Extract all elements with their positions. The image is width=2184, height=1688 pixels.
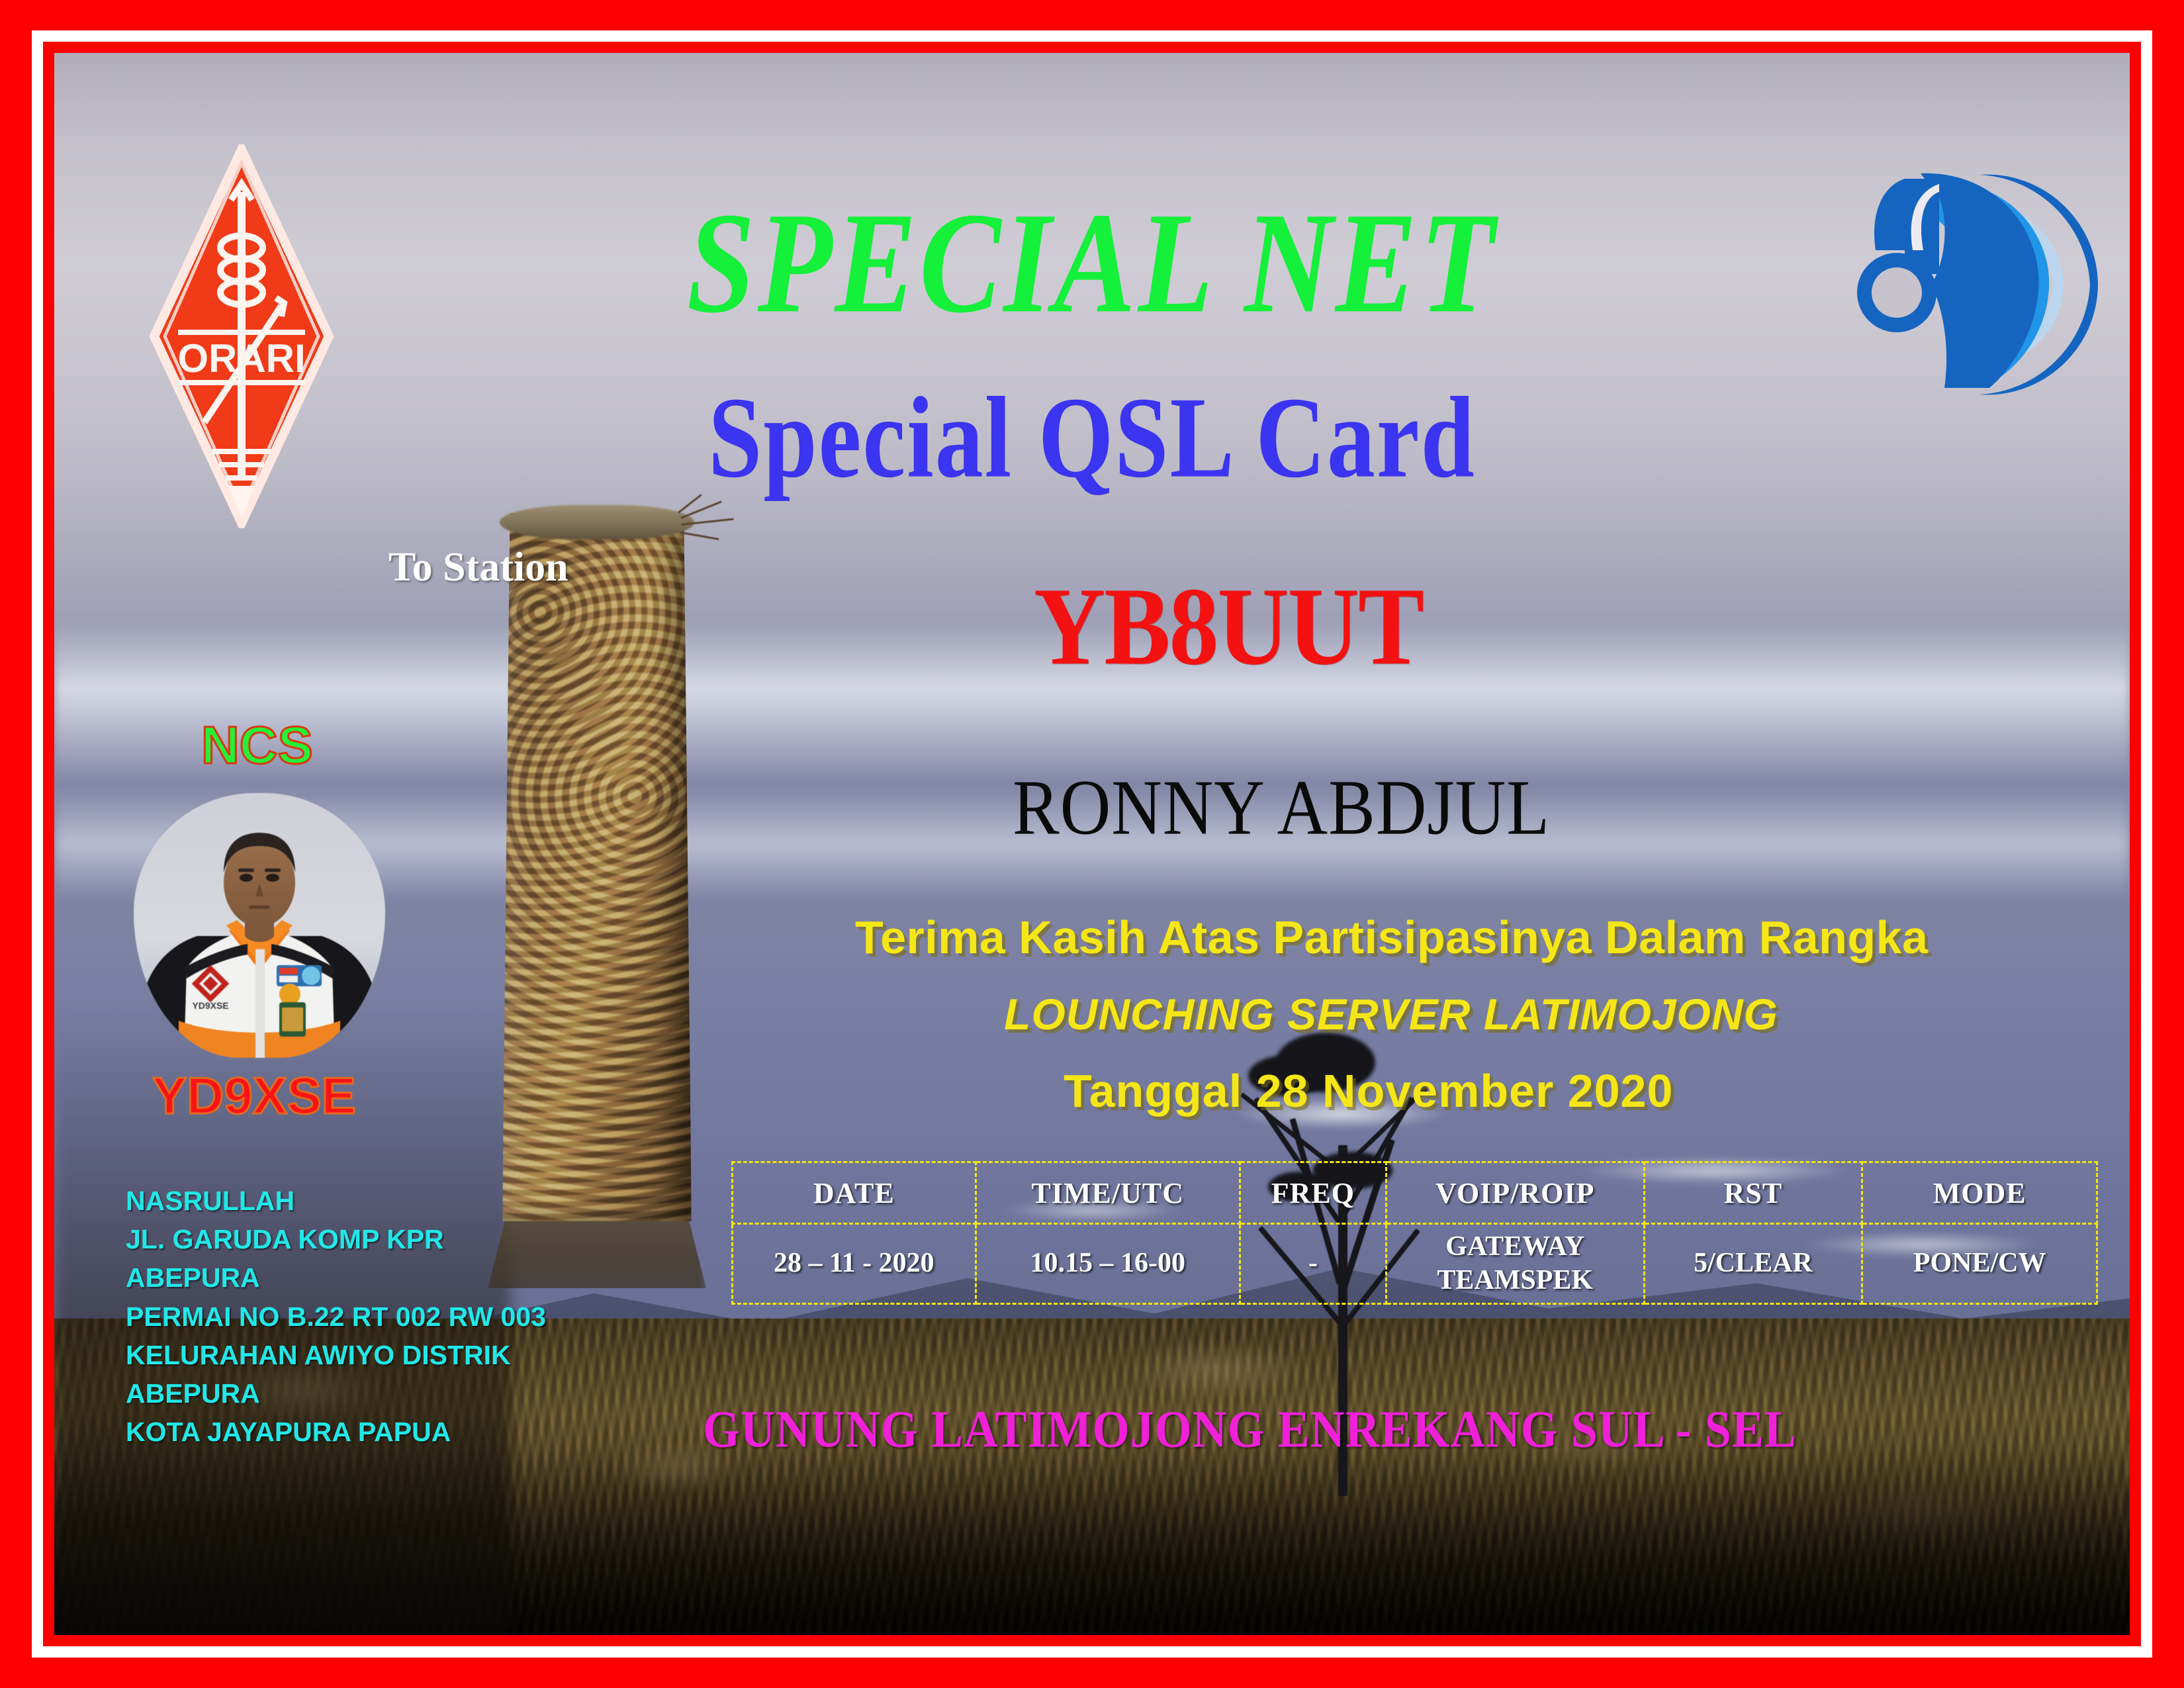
page-title: SPECIAL NET: [54, 180, 2130, 346]
svg-text:YD9XSE: YD9XSE: [192, 1000, 228, 1011]
cell-mode: PONE/CW: [1862, 1224, 2097, 1304]
cell-voip-line2: TEAMSPEK: [1437, 1265, 1593, 1295]
header-mode: MODE: [1862, 1162, 2097, 1224]
address-line: PERMAI NO B.22 RT 002 RW 003: [126, 1297, 546, 1336]
header-rst: RST: [1644, 1162, 1862, 1224]
operator-photo: YD9XSE: [134, 793, 385, 1058]
cell-voip: GATEWAY TEAMSPEK: [1386, 1224, 1644, 1304]
address-line: NASRULLAH: [126, 1182, 546, 1220]
cell-time: 10.15 – 16-00: [976, 1224, 1240, 1304]
header-freq: FREQ: [1240, 1162, 1386, 1224]
address-line: ABEPURA: [126, 1374, 546, 1413]
station-callsign: YB8UUT: [1034, 563, 1423, 690]
cairn-body: [502, 513, 692, 1221]
address-line: JL. GARUDA KOMP KPR: [126, 1220, 546, 1258]
address-line: KOTA JAYAPURA PAPUA: [126, 1413, 546, 1451]
cairn-top: [500, 505, 694, 539]
event-date-line: Tanggal 28 November 2020: [1064, 1064, 1673, 1117]
card-photo-background: ORARI: [54, 53, 2130, 1635]
cell-freq: -: [1240, 1224, 1386, 1304]
table-header-row: DATE TIME/UTC FREQ VOIP/ROIP RST MODE: [733, 1162, 2097, 1224]
address-line: KELURAHAN AWIYO DISTRIK: [126, 1336, 546, 1374]
thanks-line: Terima Kasih Atas Partisipasinya Dalam R…: [855, 911, 1929, 964]
location-line: GUNUNG LATIMOJONG ENREKANG SUL - SEL: [703, 1399, 1797, 1460]
page-subtitle: Special QSL Card: [54, 371, 2130, 504]
header-voip: VOIP/ROIP: [1386, 1162, 1644, 1224]
sender-address-block: NASRULLAH JL. GARUDA KOMP KPR ABEPURA PE…: [126, 1182, 546, 1452]
event-line: LOUNCHING SERVER LATIMOJONG: [1004, 989, 1778, 1039]
qsl-card: ORARI: [0, 0, 2184, 1688]
to-station-label: To Station: [388, 544, 569, 591]
header-date: DATE: [733, 1162, 976, 1224]
table-row: 28 – 11 - 2020 10.15 – 16-00 - GATEWAY T…: [733, 1224, 2097, 1304]
header-time: TIME/UTC: [976, 1162, 1240, 1224]
qso-log-table: DATE TIME/UTC FREQ VOIP/ROIP RST MODE 28…: [731, 1161, 2098, 1305]
ncs-callsign: YD9XSE: [152, 1066, 356, 1126]
address-line: ABEPURA: [126, 1258, 546, 1297]
ncs-label: NCS: [201, 715, 313, 776]
cell-rst: 5/CLEAR: [1644, 1224, 1862, 1304]
cell-date: 28 – 11 - 2020: [733, 1224, 976, 1304]
website-address: Address : amatir.latimojong.com: [1298, 1634, 2023, 1635]
cell-voip-line1: GATEWAY: [1445, 1231, 1584, 1262]
operator-name: RONNY ABDJUL: [1013, 763, 1550, 853]
